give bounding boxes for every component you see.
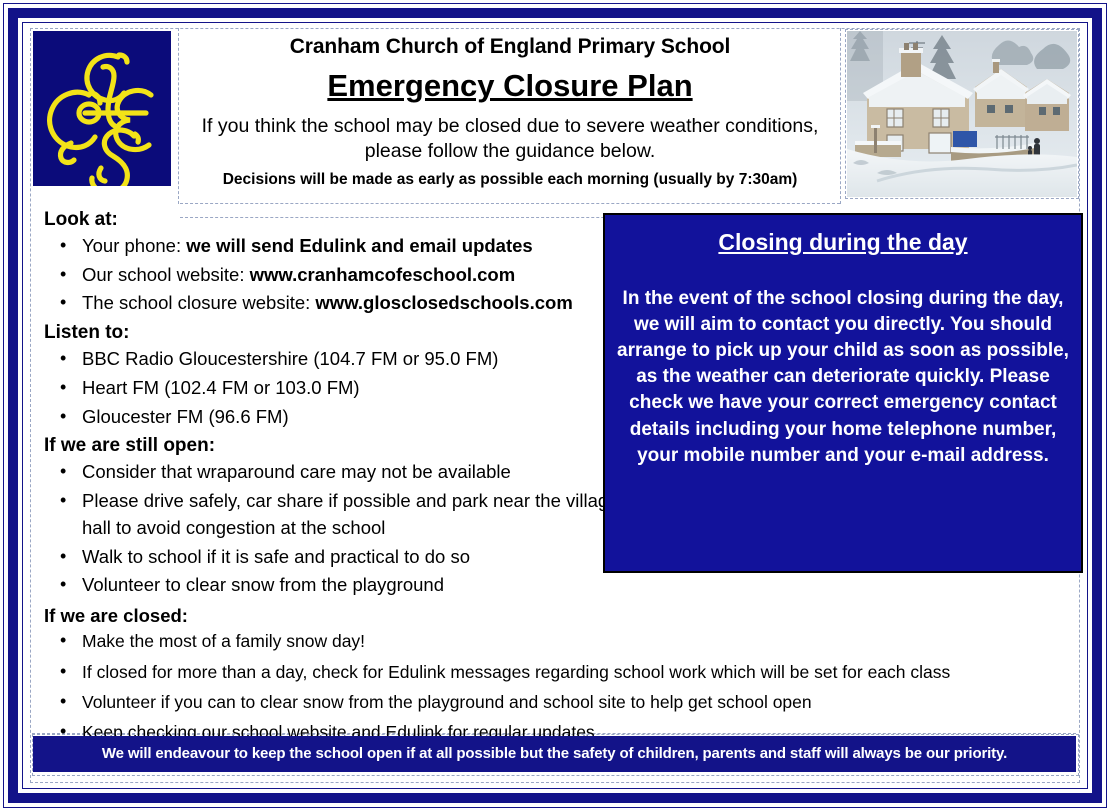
callout-body: In the event of the school closing durin…	[605, 286, 1081, 470]
section-heading: If we are closed:	[44, 604, 1078, 627]
list-item-strong: www.glosclosedschools.com	[315, 292, 572, 313]
list-item-lead: The school closure website:	[82, 292, 315, 313]
callout-title: Closing during the day	[605, 229, 1081, 257]
list-item: BBC Radio Gloucestershire (104.7 FM or 9…	[38, 346, 628, 373]
decision-time-note: Decisions will be made as early as possi…	[180, 171, 840, 190]
list-item: Our school website: www.cranhamcofeschoo…	[38, 262, 628, 289]
list-item: Make the most of a family snow day!	[38, 628, 1078, 654]
list-item-lead: Your phone:	[82, 235, 186, 256]
school-logo	[33, 31, 171, 186]
list-item-lead: Heart FM (102.4 FM or 103.0 FM)	[82, 377, 360, 398]
list-item-lead: Consider that wraparound care may not be…	[82, 461, 511, 482]
list-item-lead: Our school website:	[82, 264, 250, 285]
closing-during-day-callout: Closing during the day In the event of t…	[603, 213, 1083, 573]
list-item-lead: Gloucester FM (96.6 FM)	[82, 406, 289, 427]
list-item-strong: www.cranhamcofeschool.com	[250, 264, 516, 285]
snow-village-photo	[847, 31, 1077, 197]
list-item-strong: we will send Edulink and email updates	[186, 235, 532, 256]
emergency-closure-plan-poster: Cranham Church of England Primary School…	[0, 0, 1110, 811]
list-item: Please drive safely, car share if possib…	[38, 488, 628, 542]
priority-banner: We will endeavour to keep the school ope…	[33, 736, 1076, 772]
list-item-lead: BBC Radio Gloucestershire (104.7 FM or 9…	[82, 348, 498, 369]
list-item-lead: Walk to school if it is safe and practic…	[82, 546, 470, 567]
list-item-lead: Please drive safely, car share if possib…	[82, 490, 618, 538]
list-item: Consider that wraparound care may not be…	[38, 459, 628, 486]
cofes-monogram-icon	[33, 31, 171, 186]
list-item: The school closure website: www.glosclos…	[38, 290, 628, 317]
list-item: Volunteer to clear snow from the playgro…	[38, 572, 628, 599]
header-text-block: Cranham Church of England Primary School…	[180, 28, 840, 189]
list-item: Heart FM (102.4 FM or 103.0 FM)	[38, 375, 628, 402]
section-closed: If we are closed: Make the most of a fam…	[38, 604, 1078, 745]
list-item: Gloucester FM (96.6 FM)	[38, 404, 628, 431]
list-item: Walk to school if it is safe and practic…	[38, 544, 628, 571]
intro-text: If you think the school may be closed du…	[180, 114, 840, 165]
page-title: Emergency Closure Plan	[180, 68, 840, 104]
poster-content: Cranham Church of England Primary School…	[30, 28, 1080, 783]
list-item: Your phone: we will send Edulink and ema…	[38, 233, 628, 260]
school-name: Cranham Church of England Primary School	[180, 34, 840, 59]
closed-list: Make the most of a family snow day! If c…	[38, 628, 1078, 745]
snow-village-photo-image	[847, 31, 1077, 197]
header-row: Cranham Church of England Primary School…	[30, 28, 1080, 203]
list-item: If closed for more than a day, check for…	[38, 659, 1078, 685]
priority-banner-text: We will endeavour to keep the school ope…	[96, 745, 1013, 763]
list-item-lead: Volunteer to clear snow from the playgro…	[82, 574, 444, 595]
list-item: Volunteer if you can to clear snow from …	[38, 689, 1078, 715]
